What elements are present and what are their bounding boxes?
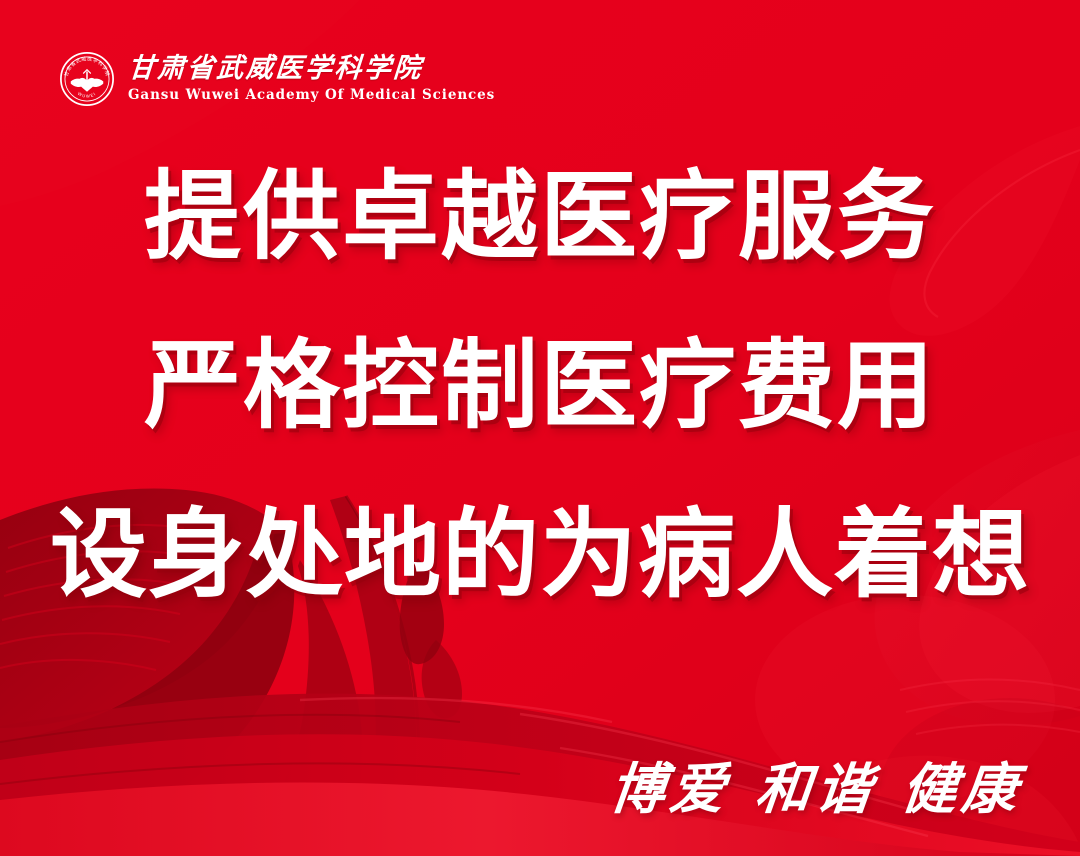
headline-block: 提供卓越医疗服务 严格控制医疗费用 设身处地的为病人着想 (0, 168, 1080, 603)
academy-emblem-icon: 甘肃省武威医学科学院 WUWEI (58, 50, 116, 108)
brand-logo-lockup[interactable]: 甘肃省武威医学科学院 WUWEI 甘肃省武威医学科学院 Gansu Wuwei … (58, 50, 495, 108)
headline-line-3: 设身处地的为病人着想 (0, 506, 1080, 603)
slogan-word-3: 健康 (899, 761, 1025, 816)
slogan-word-1: 博爱 (607, 761, 733, 816)
poster-canvas: 甘肃省武威医学科学院 WUWEI 甘肃省武威医学科学院 Gansu Wuwei … (0, 0, 1080, 856)
headline-line-2: 严格控制医疗费用 (0, 337, 1080, 434)
slogan-word-2: 和谐 (753, 761, 879, 816)
bottom-slogan: 博爱 和谐 健康 (610, 761, 1022, 816)
svg-text:WUWEI: WUWEI (77, 91, 97, 99)
brand-name-cn: 甘肃省武威医学科学院 (127, 55, 496, 82)
brand-text-block: 甘肃省武威医学科学院 Gansu Wuwei Academy Of Medica… (128, 55, 495, 103)
headline-line-1: 提供卓越医疗服务 (0, 168, 1080, 265)
brand-name-en: Gansu Wuwei Academy Of Medical Sciences (128, 89, 495, 103)
